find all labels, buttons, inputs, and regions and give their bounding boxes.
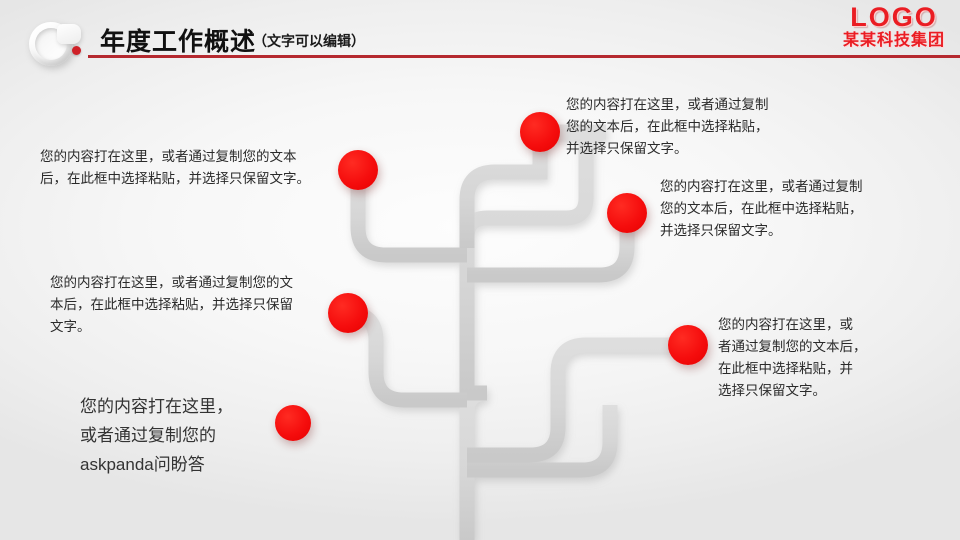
content-block-left-1[interactable]: 您的内容打在这里，或者通过复制您的文本 后，在此框中选择粘贴，并选择只保留文字。 bbox=[40, 146, 352, 190]
branch-right-upper bbox=[467, 132, 540, 248]
branch-right-lower bbox=[467, 345, 688, 455]
content-block-right-3[interactable]: 您的内容打在这里，或 者通过复制您的文本后， 在此框中选择粘贴，并 选择只保留文… bbox=[718, 314, 938, 401]
content-block-left-2[interactable]: 您的内容打在这里，或者通过复制您的文 本后，在此框中选择粘贴，并选择只保留 文字… bbox=[50, 272, 342, 338]
branch-left-middle bbox=[348, 313, 467, 400]
content-block-right-1[interactable]: 您的内容打在这里，或者通过复制 您的文本后，在此框中选择粘贴， 并选择只保留文字… bbox=[566, 94, 846, 160]
content-block-left-3[interactable]: 您的内容打在这里， 或者通过复制您的 askpanda问盼答 bbox=[80, 392, 300, 480]
node-marker-5[interactable] bbox=[668, 325, 708, 365]
branch-left-upper bbox=[358, 170, 467, 255]
content-block-right-2[interactable]: 您的内容打在这里，或者通过复制 您的文本后，在此框中选择粘贴， 并选择只保留文字… bbox=[660, 176, 952, 242]
node-marker-3[interactable] bbox=[607, 193, 647, 233]
node-marker-2[interactable] bbox=[520, 112, 560, 152]
